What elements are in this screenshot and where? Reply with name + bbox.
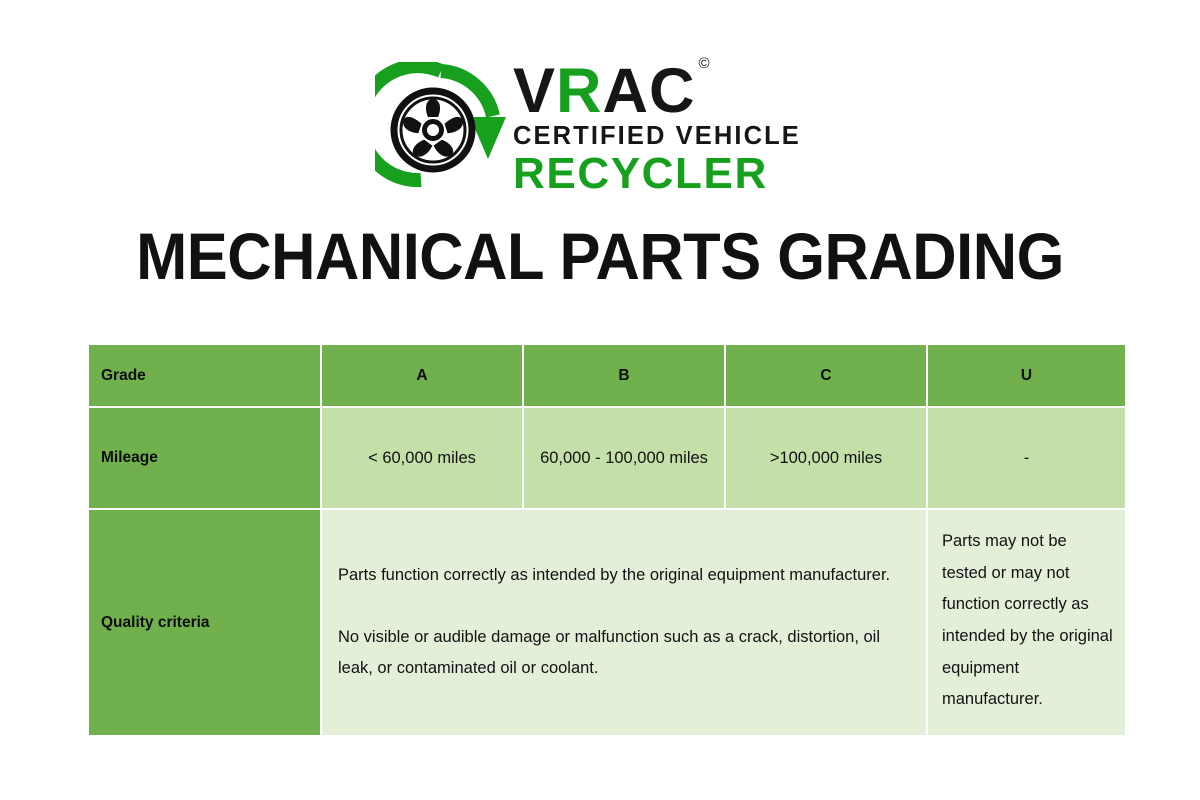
brand-letters-ac: AC (603, 56, 696, 126)
header-grade-a: A (322, 345, 522, 406)
copyright-icon: © (699, 55, 711, 72)
mileage-grade-u: - (928, 408, 1125, 508)
table-row-quality-criteria: Quality criteria Parts function correctl… (89, 510, 1125, 735)
table-header-row: Grade A B C U (89, 345, 1125, 406)
brand-letter-r: R (556, 56, 603, 126)
logo-wordmark: VRAC© CERTIFIED VEHICLE RECYCLER (513, 62, 801, 194)
logo-tagline: CERTIFIED VEHICLE (513, 122, 801, 151)
quality-paragraph-2: No visible or audible damage or malfunct… (338, 622, 910, 685)
mileage-grade-b: 60,000 - 100,000 miles (524, 408, 724, 508)
brand-name: VRAC© (513, 62, 801, 122)
header-grade-label: Grade (89, 345, 320, 406)
header-grade-b: B (524, 345, 724, 406)
logo-subbrand: RECYCLER (513, 152, 801, 197)
brand-letter-v: V (513, 56, 556, 126)
mechanical-parts-grading-table: Grade A B C U Mileage < 60,000 miles 60,… (87, 343, 1127, 737)
quality-criteria-u: Parts may not be tested or may not funct… (928, 510, 1125, 735)
row-label-mileage: Mileage (89, 408, 320, 508)
quality-paragraph-1: Parts function correctly as intended by … (338, 560, 910, 592)
page-root: VRAC© CERTIFIED VEHICLE RECYCLER MECHANI… (0, 0, 1200, 800)
page-title: MECHANICAL PARTS GRADING (42, 218, 1158, 294)
recycling-wheel-icon (375, 62, 507, 194)
row-label-quality-criteria: Quality criteria (89, 510, 320, 735)
header-grade-c: C (726, 345, 926, 406)
vrac-logo: VRAC© CERTIFIED VEHICLE RECYCLER (375, 55, 835, 200)
table-row-mileage: Mileage < 60,000 miles 60,000 - 100,000 … (89, 408, 1125, 508)
quality-criteria-abc: Parts function correctly as intended by … (322, 510, 926, 735)
header-grade-u: U (928, 345, 1125, 406)
mileage-grade-c: >100,000 miles (726, 408, 926, 508)
mileage-grade-a: < 60,000 miles (322, 408, 522, 508)
